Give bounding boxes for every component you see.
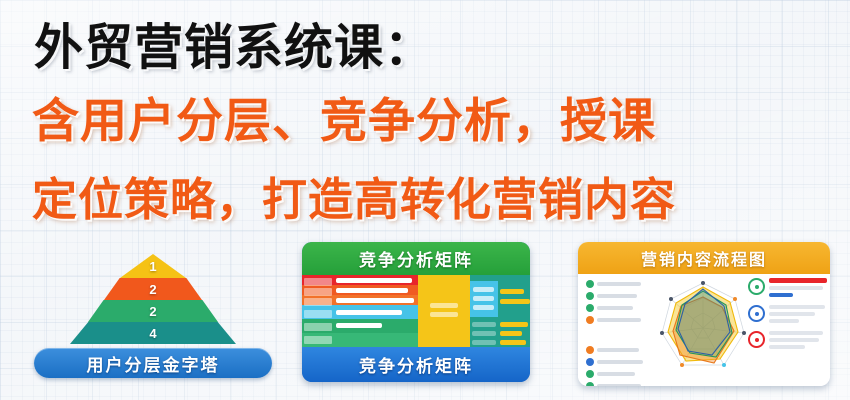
matrix-yellow-column <box>418 275 470 347</box>
pyramid-panel: 1 2 2 4 用户分层金字塔 <box>34 244 272 394</box>
legend-line <box>769 305 825 309</box>
matrix-bar <box>336 323 382 328</box>
legend-line <box>769 312 815 316</box>
pyramid-caption-button[interactable]: 用户分层金字塔 <box>34 348 272 378</box>
legend-line <box>769 338 819 342</box>
legend-line-accent <box>769 293 793 297</box>
legend-dot-icon <box>586 346 594 354</box>
matrix-card-footer: 竞争分析矩阵 <box>302 347 530 382</box>
legend-text-line <box>597 372 635 376</box>
legend-group <box>748 278 824 300</box>
legend-text-line <box>597 384 641 386</box>
headline-line-3: 定位策略，打造高转化营销内容 <box>32 176 676 224</box>
legend-dot-icon <box>586 280 594 288</box>
matrix-row-label <box>304 336 332 344</box>
legend-line-accent <box>769 278 827 283</box>
legend-text-line <box>597 360 643 364</box>
matrix-gold-bar <box>500 289 524 294</box>
matrix-card-header: 竞争分析矩阵 <box>302 242 530 275</box>
matrix-bar <box>336 298 414 303</box>
radar-chart <box>650 275 756 383</box>
matrix-cyan-column <box>470 281 498 317</box>
legend-line <box>769 345 805 349</box>
target-icon-green <box>748 278 765 295</box>
matrix-right-label <box>472 322 496 327</box>
pyramid-level-3: 2 <box>88 300 218 322</box>
headline-line-2: 含用户分层、竞争分析，授课 <box>32 96 656 146</box>
matrix-row-label <box>304 278 332 286</box>
matrix-row-label <box>304 323 332 331</box>
legend-dot-icon <box>586 316 594 324</box>
pyramid-level-1: 1 <box>120 254 186 278</box>
legend-dot-icon <box>586 292 594 300</box>
panels-row: 1 2 2 4 用户分层金字塔 竞争分析矩阵 <box>0 238 850 400</box>
matrix-cyan-text <box>473 296 494 301</box>
matrix-bar <box>336 288 408 293</box>
legend-item <box>586 304 648 312</box>
legend-dot-icon <box>586 382 594 386</box>
legend-group <box>748 331 824 352</box>
matrix-yellow-text <box>430 303 458 308</box>
legend-lines <box>769 305 825 326</box>
legend-text-line <box>597 282 641 286</box>
legend-line <box>769 319 799 323</box>
legend-dot-icon <box>586 304 594 312</box>
legend-dot-icon <box>586 370 594 378</box>
radar-card-header: 营销内容流程图 <box>578 242 830 274</box>
legend-item <box>586 370 648 378</box>
legend-line <box>769 331 823 335</box>
legend-group <box>748 305 824 326</box>
pyramid-diagram: 1 2 2 4 <box>34 244 272 344</box>
legend-text-line <box>597 306 633 310</box>
headline-line-1: 外贸营销系统课： <box>34 22 434 74</box>
radar-card[interactable]: 营销内容流程图 <box>578 242 830 386</box>
legend-item <box>586 358 648 366</box>
matrix-right-label <box>472 331 496 336</box>
matrix-row-label <box>304 298 332 306</box>
headline-block: 外贸营销系统课： 含用户分层、竞争分析，授课 定位策略，打造高转化营销内容 <box>0 0 850 238</box>
legend-text-line <box>597 294 637 298</box>
matrix-card-body <box>302 275 530 347</box>
legend-item <box>586 316 648 324</box>
radar-right-legend <box>748 278 824 357</box>
legend-item <box>586 346 648 354</box>
legend-lines <box>769 331 824 352</box>
matrix-card[interactable]: 竞争分析矩阵 <box>302 242 530 382</box>
legend-item <box>586 382 648 386</box>
target-icon-red <box>748 331 765 348</box>
matrix-bar <box>336 278 412 283</box>
legend-dot-icon <box>586 358 594 366</box>
matrix-row-label <box>304 288 332 296</box>
matrix-yellow-text <box>430 312 458 317</box>
radar-card-body <box>578 274 830 386</box>
matrix-row-label <box>304 310 332 318</box>
legend-item <box>586 292 648 300</box>
matrix-bar <box>336 310 402 315</box>
legend-line <box>769 286 823 290</box>
matrix-cyan-text <box>473 287 494 292</box>
legend-item <box>586 280 648 288</box>
legend-lines <box>769 278 827 300</box>
target-icon-blue <box>748 305 765 322</box>
legend-text-line <box>597 318 641 322</box>
matrix-right-label <box>472 340 496 345</box>
radar-left-legend <box>586 280 648 386</box>
matrix-gold-bar <box>500 299 530 304</box>
pyramid-level-4: 4 <box>70 322 236 344</box>
matrix-gold-bar <box>500 322 528 327</box>
matrix-gold-bar <box>500 331 522 336</box>
legend-spacer <box>586 328 648 342</box>
matrix-gold-bar <box>500 340 526 345</box>
pyramid-level-2: 2 <box>104 278 202 300</box>
matrix-cyan-text <box>473 305 494 310</box>
legend-text-line <box>597 348 639 352</box>
